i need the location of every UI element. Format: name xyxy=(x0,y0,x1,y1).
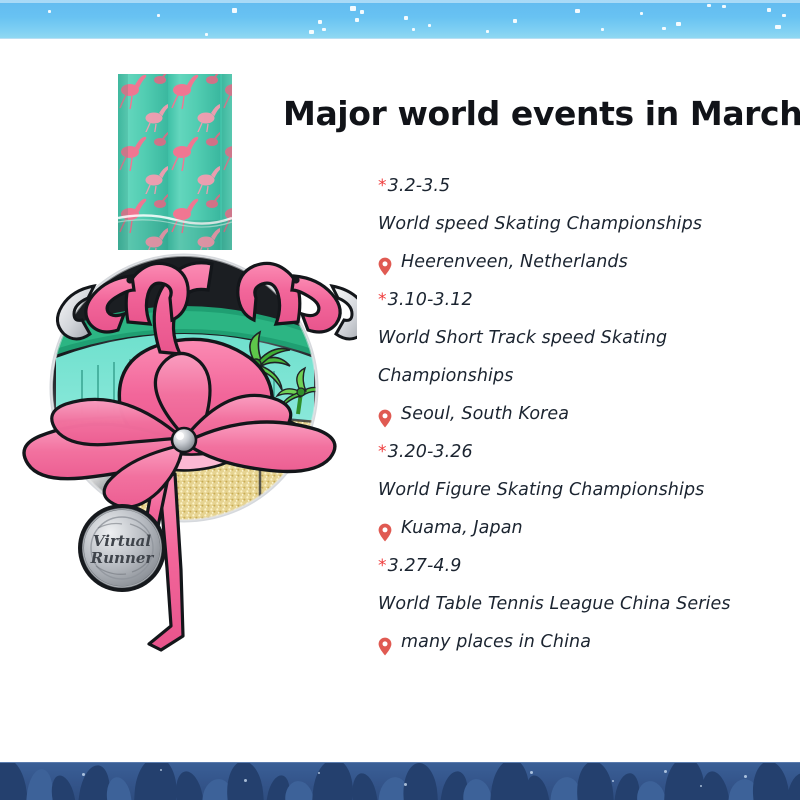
event-date-text: 3.2-3.5 xyxy=(388,176,451,196)
medal-ribbon xyxy=(118,74,232,250)
event-title: World Figure Skating Championships xyxy=(378,471,778,509)
sparkle-overlay xyxy=(0,0,800,38)
event-location-text: Kuama, Japan xyxy=(401,509,523,547)
event-title: World Table Tennis League China Series xyxy=(378,585,778,623)
event-location: Seoul, South Korea xyxy=(378,395,778,433)
map-pin-icon xyxy=(378,518,392,537)
badge-line-1: Virtual xyxy=(93,532,152,550)
event-date-text: 3.10-3.12 xyxy=(388,290,473,310)
event-date: *3.27-4.9 xyxy=(378,547,778,585)
event-date: *3.20-3.26 xyxy=(378,433,778,471)
top-decorative-band xyxy=(0,0,800,39)
bottom-decorative-band xyxy=(0,762,800,800)
event-title-line2: Championships xyxy=(378,357,778,395)
page-title: Major world events in March xyxy=(283,96,763,132)
event-title: World Short Track speed Skating xyxy=(378,319,778,357)
event-location: Kuama, Japan xyxy=(378,509,778,547)
event-date: *3.2-3.5 xyxy=(378,167,778,205)
event-location-text: many places in China xyxy=(401,623,591,661)
foliage-silhouette xyxy=(0,763,800,800)
map-pin-icon xyxy=(378,632,392,651)
event-location-text: Seoul, South Korea xyxy=(401,395,569,433)
flamingo-medal-illustration: Virtual Runner xyxy=(12,70,357,660)
map-pin-icon xyxy=(378,252,392,271)
event-date-text: 3.27-4.9 xyxy=(388,556,462,576)
event-list: *3.2-3.5 World speed Skating Championshi… xyxy=(378,167,778,661)
event-date-text: 3.20-3.26 xyxy=(388,442,473,462)
event-location: many places in China xyxy=(378,623,778,661)
asterisk-marker: * xyxy=(378,176,388,196)
asterisk-marker: * xyxy=(378,556,388,576)
poster-canvas: Virtual Runner Major world events in Mar… xyxy=(0,0,800,800)
event-location-text: Heerenveen, Netherlands xyxy=(401,243,628,281)
map-pin-icon xyxy=(378,404,392,423)
event-location: Heerenveen, Netherlands xyxy=(378,243,778,281)
virtual-runner-badge: Virtual Runner xyxy=(78,504,166,592)
event-title: World speed Skating Championships xyxy=(378,205,778,243)
asterisk-marker: * xyxy=(378,442,388,462)
badge-line-2: Runner xyxy=(90,549,155,567)
asterisk-marker: * xyxy=(378,290,388,310)
event-date: *3.10-3.12 xyxy=(378,281,778,319)
